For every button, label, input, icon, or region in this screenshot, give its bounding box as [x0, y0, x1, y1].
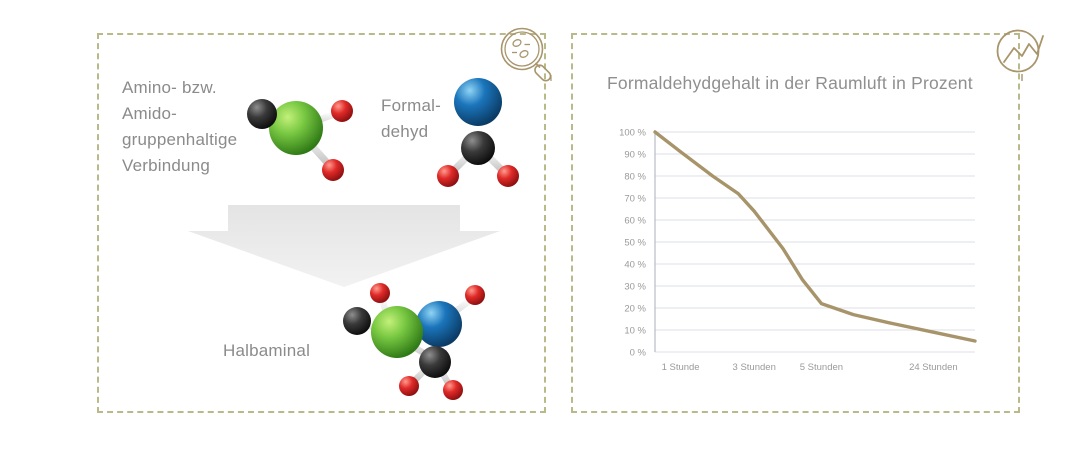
chart-x-axis-labels: 1 Stunde3 Stunden5 Stunden24 Stunden: [662, 362, 958, 370]
y-axis-tick-label: 70 %: [624, 193, 646, 204]
y-axis-tick-label: 50 %: [624, 237, 646, 248]
y-axis-tick-label: 40 %: [624, 259, 646, 270]
chart-gridlines: [655, 132, 975, 352]
chart-svg: 100 %90 %80 %70 %60 %50 %40 %30 %20 %10 …: [600, 120, 1000, 370]
y-axis-tick-label: 90 %: [624, 149, 646, 160]
y-axis-tick-label: 60 %: [624, 215, 646, 226]
halbaminal-molecule: [327, 272, 507, 400]
infographic-canvas: Amino- bzw. Amido- gruppenhaltige Verbin…: [0, 0, 1080, 462]
y-axis-tick-label: 30 %: [624, 281, 646, 292]
amino-compound-molecule: [234, 84, 364, 190]
y-axis-tick-label: 100 %: [619, 127, 646, 138]
y-axis-tick-label: 80 %: [624, 171, 646, 182]
x-axis-tick-label: 1 Stunde: [662, 362, 700, 370]
data-series-line: [655, 132, 975, 341]
y-axis-tick-label: 0 %: [630, 347, 647, 358]
x-axis-tick-label: 24 Stunden: [909, 362, 958, 370]
formaldehyde-decay-chart: 100 %90 %80 %70 %60 %50 %40 %30 %20 %10 …: [600, 120, 1000, 370]
trend-chart-icon: [991, 24, 1053, 86]
formaldehyde-molecule: [432, 72, 524, 192]
y-axis-tick-label: 10 %: [624, 325, 646, 336]
x-axis-tick-label: 3 Stunden: [733, 362, 776, 370]
y-axis-tick-label: 20 %: [624, 303, 646, 314]
chart-title: Formaldehydgehalt in der Raumluft in Pro…: [607, 73, 973, 94]
chart-y-axis-labels: 100 %90 %80 %70 %60 %50 %40 %30 %20 %10 …: [619, 127, 646, 358]
x-axis-tick-label: 5 Stunden: [800, 362, 843, 370]
